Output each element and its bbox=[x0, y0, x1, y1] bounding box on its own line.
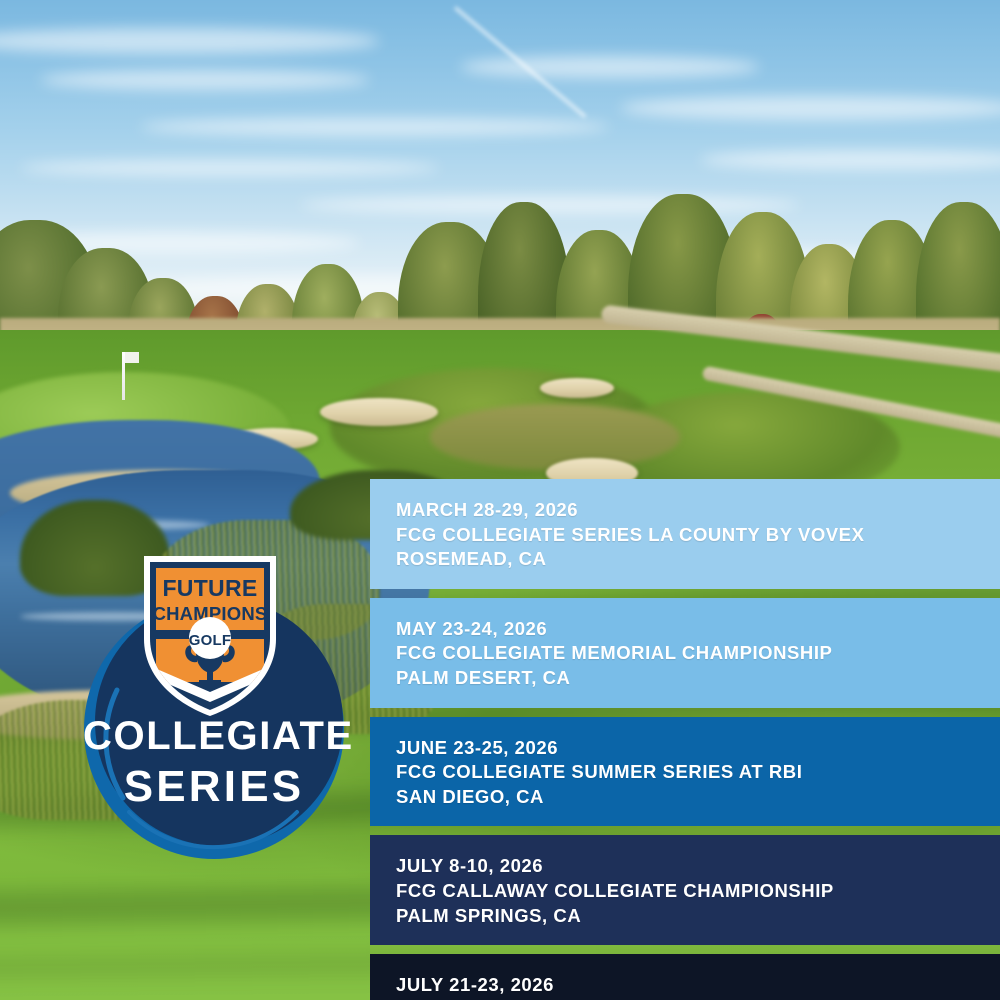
event-location: PALM SPRINGS, CA bbox=[396, 904, 1000, 929]
event-date: JUNE 23-25, 2026 bbox=[396, 736, 1000, 761]
event-date: MARCH 28-29, 2026 bbox=[396, 498, 1000, 523]
event-date: MAY 23-24, 2026 bbox=[396, 617, 1000, 642]
event-location: ROSEMEAD, CA bbox=[396, 547, 1000, 572]
cloud-streak bbox=[620, 96, 1000, 120]
cloud-streak bbox=[40, 70, 370, 90]
shield-text-golf: GOLF bbox=[189, 632, 231, 649]
badge-wordmark: COLLEGIATE SERIES bbox=[83, 716, 345, 809]
event-bar[interactable]: MAY 23-24, 2026 FCG COLLEGIATE MEMORIAL … bbox=[370, 598, 1000, 708]
rough-edge bbox=[430, 404, 680, 470]
shield-text-future: FUTURE bbox=[162, 575, 257, 601]
cloud-streak bbox=[20, 160, 440, 176]
sand-bunker bbox=[320, 398, 438, 426]
sand-bunker bbox=[540, 378, 614, 398]
event-name: FCG COLLEGIATE SUMMER SERIES AT RBI bbox=[396, 760, 1000, 785]
event-location: PALM DESERT, CA bbox=[396, 666, 1000, 691]
event-name: FCG COLLEGIATE MEMORIAL CHAMPIONSHIP bbox=[396, 641, 1000, 666]
cloud-streak bbox=[140, 118, 610, 136]
event-name: FCG CALLAWAY COLLEGIATE CHAMPIONSHIP bbox=[396, 879, 1000, 904]
poster-root: MARCH 28-29, 2026 FCG COLLEGIATE SERIES … bbox=[0, 0, 1000, 1000]
event-bar[interactable]: JULY 21-23, 2026 FCG COLLEGIATE NATIONAL… bbox=[370, 954, 1000, 1000]
event-bar[interactable]: JULY 8-10, 2026 FCG CALLAWAY COLLEGIATE … bbox=[370, 835, 1000, 945]
event-name: FCG COLLEGIATE SERIES LA COUNTY BY VOVEX bbox=[396, 523, 1000, 548]
wordmark-series: SERIES bbox=[83, 765, 345, 809]
event-date: JULY 8-10, 2026 bbox=[396, 854, 1000, 879]
future-champions-golf-shield[interactable]: FUTURE CHAMPIONS GOLF bbox=[142, 552, 278, 716]
event-schedule-list: MARCH 28-29, 2026 FCG COLLEGIATE SERIES … bbox=[370, 479, 1000, 1000]
cloud-streak bbox=[460, 56, 760, 78]
flag bbox=[125, 352, 139, 363]
event-date: JULY 21-23, 2026 bbox=[396, 973, 1000, 998]
wordmark-collegiate: COLLEGIATE bbox=[83, 716, 345, 756]
event-bar[interactable]: JUNE 23-25, 2026 FCG COLLEGIATE SUMMER S… bbox=[370, 717, 1000, 827]
event-location: SAN DIEGO, CA bbox=[396, 785, 1000, 810]
event-bar[interactable]: MARCH 28-29, 2026 FCG COLLEGIATE SERIES … bbox=[370, 479, 1000, 589]
